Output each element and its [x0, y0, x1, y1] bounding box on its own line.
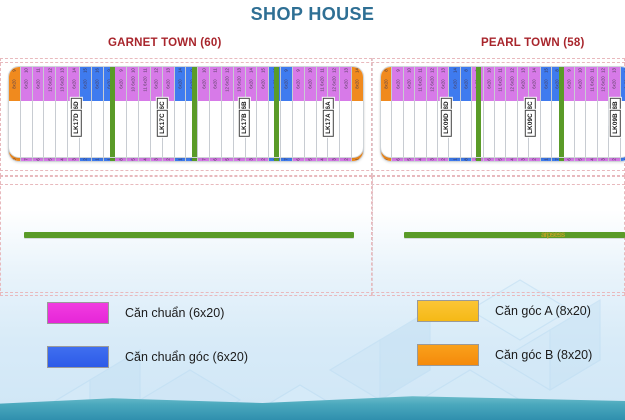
plot-number-label: 3 [600, 158, 605, 160]
plot-unit[interactable]: 12 6x2012 [427, 67, 437, 101]
plot-dimension-label: 8x20 [355, 79, 360, 88]
plot-cell-spacer [281, 101, 292, 158]
plot-number-label: 5 [407, 158, 412, 160]
plot-cell-spacer [139, 101, 150, 158]
plot-number-label: 7 [384, 158, 389, 160]
plot-cell[interactable]: 11 6x2011 [586, 67, 597, 157]
plot-dimension-label: 12 6x20 [225, 76, 230, 92]
plot-cell-spacer [621, 101, 625, 158]
plot-cell-spacer [404, 101, 414, 158]
plot-number-label: 11 [418, 68, 423, 72]
plot-cell[interactable]: 6x2014 [175, 67, 187, 157]
plot-unit[interactable]: 6x209 [115, 67, 126, 101]
plot-cell[interactable]: 6x2011 [210, 67, 222, 157]
plot-cell[interactable]: 6x2016 [92, 67, 104, 157]
plot-dimension-label: 6x20 [178, 79, 183, 88]
plot-cell-spacer [115, 101, 126, 158]
plot-number-label: 15 [543, 68, 548, 73]
plot-dimension-label: 11 6x20 [319, 76, 324, 91]
plot-cell[interactable]: 11 6x2011 [495, 67, 506, 157]
plan-dashed-guide [0, 62, 625, 63]
plot-cell-spacer [598, 101, 608, 158]
plot-dimension-label: 13 6x20 [59, 76, 64, 92]
block-code-lk09b[interactable]: LK09B [610, 110, 621, 137]
plot-number-label: 12 [509, 68, 514, 73]
plot-number-label: 10 [24, 68, 29, 73]
plot-number-label: 3 [71, 158, 76, 160]
block-code-lk09c[interactable]: LK09C [525, 110, 536, 137]
page-title: SHOP HOUSE [0, 4, 625, 25]
plot-dimension-label: 6x20 [532, 79, 537, 88]
plot-cell[interactable]: 6x2015 [257, 67, 269, 157]
plot-number-label: 12 [331, 68, 336, 73]
plot-unit[interactable]: 13 6x2013 [234, 67, 245, 101]
legend-label-corner-b: Căn góc B (8x20) [495, 348, 592, 362]
plot-cell-spacer [257, 101, 268, 158]
plot-cell[interactable]: 6x209 [564, 67, 575, 157]
plot-number-label: 8 [464, 69, 469, 71]
plot-number-label: 7 [284, 158, 289, 160]
plot-cell-spacer [175, 101, 186, 158]
plot-dimension-label: 6x20 [441, 79, 446, 88]
plot-cell[interactable]: 6x2010 [305, 67, 317, 157]
plot-number-label: 8 [464, 158, 469, 160]
block-code-lk09d[interactable]: LK09D [441, 110, 452, 137]
plot-unit[interactable]: 6x2010 [575, 67, 585, 101]
plot-dimension-label: 6x20 [566, 79, 571, 88]
plot-number-label: 4 [237, 158, 242, 160]
plot-cell-spacer [586, 101, 596, 158]
plot-number-label: 4 [59, 158, 64, 160]
plot-dimension-label: 6x20 [543, 79, 548, 88]
plot-number-label: 13 [59, 68, 64, 73]
block-green-divider [476, 67, 481, 157]
plot-dimension-label: 12 6x20 [509, 76, 514, 92]
plot-cell-spacer [506, 101, 516, 158]
plot-unit[interactable]: 12 6x2012 [222, 67, 233, 101]
plot-unit[interactable]: 11 6x2011 [139, 67, 150, 101]
plot-number-label: 13 [237, 68, 242, 73]
plot-cell-spacer [92, 101, 103, 158]
plot-dimension-label: 6x20 [578, 79, 583, 88]
block-code-lk17b[interactable]: LK17B [238, 110, 249, 137]
plot-unit[interactable]: 6x2010 [305, 67, 316, 101]
plot-number-label: 14 [452, 68, 457, 73]
plot-number-label: 6 [566, 158, 571, 160]
plot-cell[interactable]: 12 6x2012 [222, 67, 234, 157]
plot-number-label: 2 [343, 158, 348, 160]
plot-cell[interactable]: 8x209 [9, 67, 21, 157]
legend-label-corner-a: Căn góc A (8x20) [495, 304, 591, 318]
plot-cell[interactable]: 13 6x2013 [56, 67, 68, 157]
plot-number-label: 9 [118, 69, 123, 71]
town-title-garnet: GARNET TOWN (60) [108, 37, 222, 49]
plot-unit[interactable]: 11 6x2011 [415, 67, 425, 101]
plot-cell[interactable]: 6x209 [293, 67, 305, 157]
plot-cell[interactable]: 6x2013 [340, 67, 352, 157]
plot-number-label: 11 [213, 68, 218, 72]
plan-dashed-guide [0, 170, 625, 171]
plot-cell[interactable]: 6x209 [115, 67, 127, 157]
plot-unit[interactable]: 13 6x2013 [56, 67, 67, 101]
plot-number-label: 9 [284, 69, 289, 71]
plot-cell[interactable]: 11 6x2011 [415, 67, 426, 157]
plot-cell[interactable]: 6x2015 [541, 67, 552, 157]
plot-unit[interactable]: 12 6x2012 [328, 67, 339, 101]
plan-dashed-guide-vertical [372, 58, 373, 296]
plot-unit[interactable]: 12 6x2012 [506, 67, 516, 101]
plot-number-label: 1 [178, 158, 183, 160]
block-code-lk17a[interactable]: LK17A [323, 110, 334, 137]
plot-number-label: 4 [142, 158, 147, 160]
plot-number-label: 6 [395, 158, 400, 160]
plot-number-label: 3 [521, 158, 526, 160]
plot-number-label: 6 [296, 158, 301, 160]
plot-unit[interactable]: 6x2013 [163, 67, 174, 101]
plot-unit[interactable]: 8x208 [381, 67, 391, 101]
house-block-row2-right[interactable]: 8x2086x2096x201011 6x201112 6x20126x2013… [380, 66, 625, 158]
plot-number-label: 7 [201, 158, 206, 160]
plot-number-label: 2 [532, 158, 537, 160]
plot-dimension-label: 6x20 [118, 79, 123, 88]
plot-dimension-label: 6x20 [407, 79, 412, 88]
legend-item-standard: Căn chuẩn (6x20) [47, 302, 224, 324]
plot-number-label: 6 [486, 158, 491, 160]
plot-unit[interactable]: 6x2014 [175, 67, 186, 101]
plot-dimension-label: 6x20 [248, 79, 253, 88]
plot-dimension-label: 6x20 [464, 79, 469, 88]
plot-dimension-label: 6x20 [166, 79, 171, 88]
plot-number-label: 12 [154, 68, 159, 73]
legend-swatch-corner-a [417, 300, 479, 322]
house-block-row2-left[interactable]: 8x2096x20106x201112 6x201213 6x20136x201… [8, 66, 364, 158]
plot-cell-spacer [381, 101, 391, 158]
plot-number-label: 5 [225, 158, 230, 160]
plot-unit[interactable]: 6x2013 [340, 67, 351, 101]
plot-number-label: 11 [319, 68, 324, 72]
plot-cell[interactable]: 6x2010 [198, 67, 210, 157]
plot-dimension-label: 6x20 [95, 79, 100, 88]
legend-swatch-corner-b [417, 344, 479, 366]
plot-number-label: 1 [95, 158, 100, 160]
plot-number-label: 5 [308, 158, 313, 160]
plot-number-label: 10 [407, 68, 412, 73]
plot-number-label: 5 [498, 158, 503, 160]
plot-number-label: 1 [543, 158, 548, 160]
plot-number-label: 4 [589, 158, 594, 160]
block-code-lk17c[interactable]: LK17C [156, 110, 167, 137]
plot-unit[interactable]: 6x2010 [198, 67, 209, 101]
plot-cell-spacer [44, 101, 55, 158]
plot-dimension-label: 6x20 [308, 79, 313, 88]
plot-unit[interactable]: 10 6x2010 [127, 67, 138, 101]
plot-cell-spacer [541, 101, 551, 158]
plot-number-label: 4 [418, 158, 423, 160]
plot-unit[interactable]: 6x2012 [151, 67, 162, 101]
plot-unit[interactable]: 8x209 [9, 67, 20, 101]
plot-unit[interactable]: 6x2013 [438, 67, 448, 101]
plot-number-label: 9 [296, 69, 301, 71]
plot-cell[interactable]: 11 6x2011 [139, 67, 151, 157]
plot-unit[interactable]: 6x2015 [80, 67, 91, 101]
plot-number-label: 7 [24, 158, 29, 160]
block-green-divider [192, 67, 197, 157]
plot-number-label: 5 [130, 158, 135, 160]
plot-number-label: 10 [486, 68, 491, 73]
plot-number-label: 4 [319, 158, 324, 160]
plot-number-label: 10 [308, 68, 313, 73]
plot-cell-spacer [352, 101, 363, 158]
plot-unit[interactable]: 6x209 [281, 67, 292, 101]
plot-cell-spacer [222, 101, 233, 158]
plot-number-label: 1 [355, 158, 360, 160]
plot-number-label: 13 [166, 68, 171, 73]
plot-number-label: 4 [509, 158, 514, 160]
block-green-divider [559, 67, 564, 157]
plot-number-label: 10 [130, 68, 135, 73]
plot-cell[interactable]: 6x208 [461, 67, 472, 157]
plot-number-label: 9 [566, 69, 571, 71]
plot-dimension-label: 6x20 [452, 79, 457, 88]
plot-number-label: 12 [429, 68, 434, 73]
plot-dimension-label: 6x20 [36, 79, 41, 88]
plot-cell[interactable]: 12 6x2012 [44, 67, 56, 157]
plot-number-label: 3 [248, 158, 253, 160]
plot-unit[interactable]: 6x2016 [92, 67, 103, 101]
legend-item-corner-a: Căn góc A (8x20) [417, 300, 591, 322]
plot-unit[interactable]: 6x2011 [33, 67, 44, 101]
plot-dimension-label: 11 6x20 [498, 76, 503, 91]
plot-number-label: 10 [578, 68, 583, 73]
plot-number-label: 6 [213, 158, 218, 160]
plot-cell-spacer [495, 101, 505, 158]
plot-dimension-label: 12 6x20 [47, 76, 52, 92]
legend-label-standard: Căn chuẩn (6x20) [125, 306, 224, 320]
plot-number-label: 5 [578, 158, 583, 160]
legend-item-corner-b: Căn góc B (8x20) [417, 344, 592, 366]
plot-cell-spacer [484, 101, 494, 158]
plot-dimension-label: 6x20 [201, 79, 206, 88]
legend-swatch-standard-corner [47, 346, 109, 368]
plot-number-label: 12 [225, 68, 230, 73]
plot-cell[interactable]: 6x209 [392, 67, 403, 157]
plot-dimension-label: 12 6x20 [600, 76, 605, 92]
plot-number-label: 11 [498, 68, 503, 72]
road-left [24, 232, 354, 238]
plot-number-label: 13 [441, 68, 446, 73]
legend-swatch-standard [47, 302, 109, 324]
plot-number-label: 2 [83, 158, 88, 160]
plot-unit[interactable]: 6x209 [293, 67, 304, 101]
plot-unit[interactable]: 8x2014 [352, 67, 363, 101]
plot-number-label: 11 [142, 68, 147, 72]
plot-number-label: 9 [12, 69, 17, 71]
legend-label-standard-corner: Căn chuẩn góc (6x20) [125, 350, 248, 364]
road-right: arpsess [404, 232, 625, 238]
plot-unit[interactable]: 6x209 [392, 67, 402, 101]
plot-number-label: 8 [12, 158, 17, 160]
plot-cell[interactable]: 12 6x2012 [598, 67, 609, 157]
plot-cell-spacer [9, 101, 20, 158]
plot-dimension-label: 6x20 [284, 79, 289, 88]
plot-number-label: 14 [178, 68, 183, 73]
plot-cell[interactable]: 8x208 [381, 67, 392, 157]
plot-unit[interactable]: 12 6x2012 [598, 67, 608, 101]
block-green-divider [274, 67, 279, 157]
plot-unit[interactable]: 6x2015 [541, 67, 551, 101]
plot-dimension-label: 6x20 [486, 79, 491, 88]
plot-unit[interactable]: 12 6x2012 [44, 67, 55, 101]
plot-dimension-label: 12 6x20 [429, 76, 434, 92]
plan-dashed-guide [0, 184, 625, 185]
plan-dashed-guide [0, 292, 625, 293]
plot-cell-spacer [127, 101, 138, 158]
plot-number-label: 2 [612, 158, 617, 160]
plot-cell[interactable]: 6x2011 [33, 67, 45, 157]
plot-cell-spacer [575, 101, 585, 158]
plot-unit[interactable]: 6x208 [461, 67, 471, 101]
plot-cell[interactable]: 10 6x2010 [127, 67, 139, 157]
plot-dimension-label: 6x20 [24, 79, 29, 88]
plot-dimension-label: 12 6x20 [331, 76, 336, 92]
plot-unit[interactable]: 6x2010 [21, 67, 32, 101]
legend-item-standard-corner: Căn chuẩn góc (6x20) [47, 346, 248, 368]
plot-cell-spacer [564, 101, 574, 158]
plot-number-label: 6 [36, 158, 41, 160]
plot-unit[interactable]: 6x2010 [484, 67, 494, 101]
plot-dimension-label: 8x20 [384, 79, 389, 88]
plot-number-label: 3 [429, 158, 434, 160]
plot-cell-spacer [305, 101, 316, 158]
plot-cell[interactable]: 6x2010 [404, 67, 415, 157]
plot-number-label: 15 [83, 68, 88, 73]
plot-number-label: 5 [47, 158, 52, 160]
plot-number-label: 15 [260, 68, 265, 73]
plot-dimension-label: 6x20 [612, 79, 617, 88]
plot-number-label: 11 [36, 68, 41, 72]
plot-cell[interactable]: 6x2010 [21, 67, 33, 157]
plot-cell-spacer [198, 101, 209, 158]
plot-cell-spacer [340, 101, 351, 158]
plot-number-label: 14 [71, 68, 76, 73]
plot-unit[interactable]: 11 6x2011 [495, 67, 505, 101]
plot-number-label: 13 [612, 68, 617, 73]
plot-cell[interactable]: 12 6x2012 [427, 67, 438, 157]
plot-dimension-label: 11 6x20 [418, 76, 423, 91]
road-watermark: arpsess [541, 230, 564, 239]
block-code-lk17d[interactable]: LK17D [71, 110, 82, 137]
plot-dimension-label: 6x20 [71, 79, 76, 88]
plot-unit[interactable]: 11 6x2011 [317, 67, 328, 101]
plot-number-label: 11 [589, 68, 594, 72]
plot-dimension-label: 6x20 [154, 79, 159, 88]
plot-number-label: 13 [521, 68, 526, 73]
plot-unit[interactable]: 6x2014 [246, 67, 257, 101]
plot-dimension-label: 10 6x20 [130, 76, 135, 92]
plot-number-label: 3 [331, 158, 336, 160]
plot-cell-spacer [33, 101, 44, 158]
plot-unit[interactable]: 6x2013 [609, 67, 619, 101]
plot-cell[interactable]: 8x2014 [352, 67, 363, 157]
plot-cell[interactable]: 6x2010 [575, 67, 586, 157]
plot-number-label: 14 [355, 68, 360, 73]
plot-unit[interactable]: 6x2013 [518, 67, 528, 101]
plot-unit[interactable]: 11 6x2011 [586, 67, 596, 101]
plot-cell-spacer [21, 101, 32, 158]
plot-dimension-label: 6x20 [83, 79, 88, 88]
plot-dimension-label: 6x20 [395, 79, 400, 88]
plot-cell[interactable]: 12 6x2012 [506, 67, 517, 157]
plot-number-label: 12 [600, 68, 605, 73]
plot-number-label: 10 [201, 68, 206, 73]
plot-number-label: 16 [95, 68, 100, 73]
plot-dimension-label: 6x20 [521, 79, 526, 88]
plot-unit[interactable]: 6x2014 [449, 67, 459, 101]
legend: Căn chuẩn (6x20) Căn chuẩn góc (6x20) Că… [0, 296, 625, 378]
plot-number-label: 1 [452, 158, 457, 160]
plot-cell-spacer [56, 101, 67, 158]
plot-cell[interactable]: 6x2014 [621, 67, 625, 157]
plot-number-label: 13 [343, 68, 348, 73]
plot-dimension-label: 11 6x20 [589, 76, 594, 91]
town-title-pearl: PEARL TOWN (58) [481, 37, 585, 49]
plot-number-label: 8 [384, 69, 389, 71]
plot-dimension-label: 6x20 [213, 79, 218, 88]
plot-cell-spacer [392, 101, 402, 158]
plot-number-label: 12 [47, 68, 52, 73]
plot-number-label: 2 [441, 158, 446, 160]
plot-dimension-label: 6x20 [260, 79, 265, 88]
block-green-divider [110, 67, 115, 157]
plot-unit[interactable]: 6x209 [564, 67, 574, 101]
plot-cell-spacer [461, 101, 471, 158]
plot-cell-spacer [210, 101, 221, 158]
site-plan: arpsess 8x2086x2076x2066x20 556x20 446x2… [0, 58, 625, 296]
plot-unit[interactable]: 6x2014 [621, 67, 625, 101]
plot-cell[interactable]: 6x209 [281, 67, 293, 157]
plot-number-label: 2 [260, 158, 265, 160]
plot-dimension-label: 11 6x20 [142, 76, 147, 91]
plot-number-label: 14 [532, 68, 537, 73]
plot-number-label: 9 [395, 69, 400, 71]
plot-number-label: 2 [166, 158, 171, 160]
plot-dimension-label: 13 6x20 [237, 76, 242, 92]
plot-number-label: 3 [154, 158, 159, 160]
plot-cell-spacer [415, 101, 425, 158]
plot-unit[interactable]: 6x2011 [210, 67, 221, 101]
plot-number-label: 14 [248, 68, 253, 73]
plot-number-label: 8 [118, 158, 123, 160]
plot-unit[interactable]: 6x2015 [257, 67, 268, 101]
plot-cell-spacer [293, 101, 304, 158]
plot-dimension-label: 8x20 [12, 79, 17, 88]
plot-unit[interactable]: 6x2014 [529, 67, 539, 101]
plot-unit[interactable]: 6x2014 [68, 67, 79, 101]
plot-cell[interactable]: 6x2010 [484, 67, 495, 157]
plot-unit[interactable]: 6x2010 [404, 67, 414, 101]
plot-cell-spacer [427, 101, 437, 158]
plot-dimension-label: 6x20 [343, 79, 348, 88]
plot-dimension-label: 6x20 [296, 79, 301, 88]
